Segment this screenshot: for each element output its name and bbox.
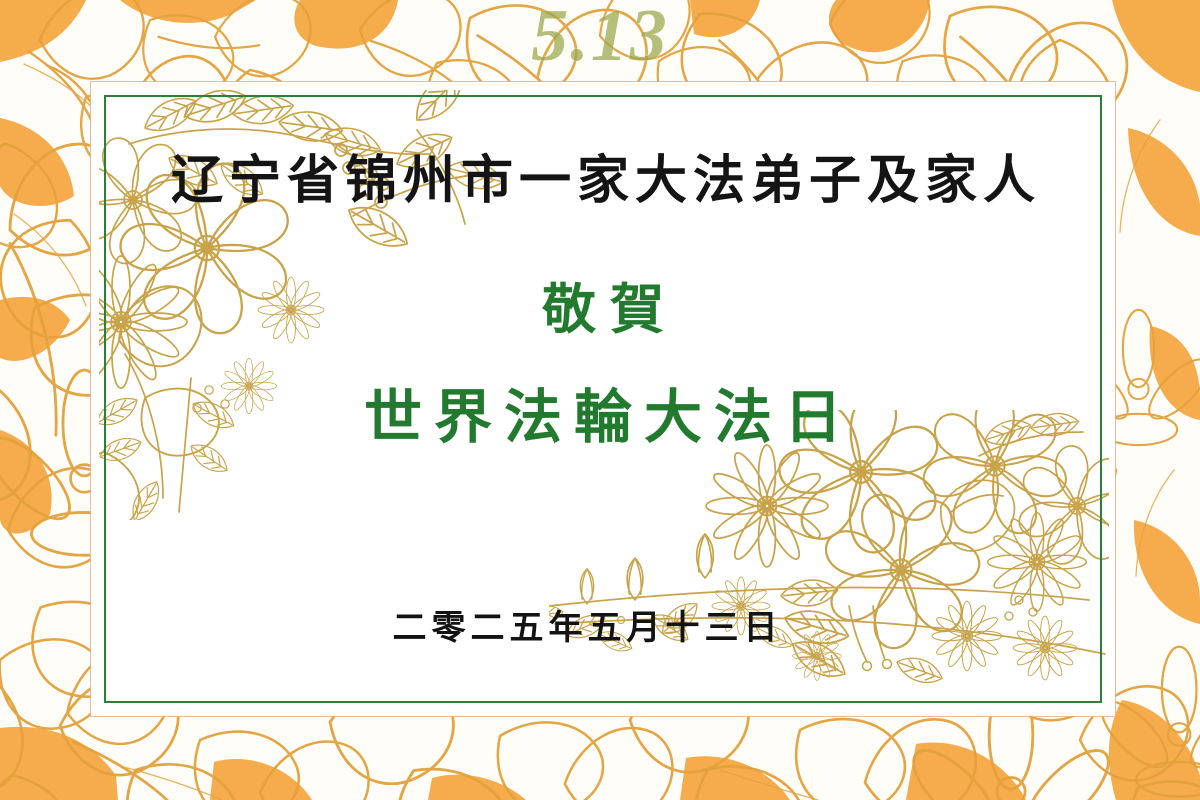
card-salutation: 敬賀	[91, 265, 1115, 344]
card-signature-date: 二零二五年五月十三日	[91, 600, 1097, 649]
card-headline: 辽宁省锦州市一家大法弟子及家人	[91, 138, 1115, 213]
card-occasion-title: 世界法輪大法日	[91, 370, 1115, 454]
card-content: 辽宁省锦州市一家大法弟子及家人 敬賀 世界法輪大法日 二零二五年五月十三日	[91, 82, 1115, 716]
greeting-card: 辽宁省锦州市一家大法弟子及家人 敬賀 世界法輪大法日 二零二五年五月十三日	[91, 82, 1115, 716]
greeting-card-canvas: 5.13	[0, 0, 1200, 800]
